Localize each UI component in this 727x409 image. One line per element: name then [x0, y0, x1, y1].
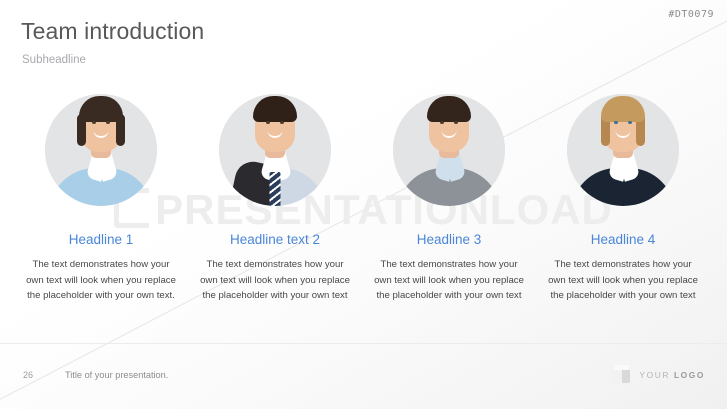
logo-word-logo: LOGO — [674, 370, 705, 380]
column-body-text[interactable]: The text demonstrates how your own text … — [199, 257, 351, 304]
column-headline[interactable]: Headline text 2 — [230, 232, 320, 247]
logo-block[interactable]: YOUR LOGO — [612, 365, 705, 385]
column-body-text[interactable]: The text demonstrates how your own text … — [25, 257, 177, 304]
subheadline[interactable]: Subheadline — [22, 54, 86, 66]
cube-right-face — [622, 370, 630, 383]
portrait-eye-right — [280, 121, 284, 124]
footer-divider — [0, 343, 727, 344]
page-number: 26 — [23, 370, 33, 380]
portrait-eye-left — [614, 121, 618, 124]
portrait-striped-tie — [270, 172, 281, 206]
column-headline[interactable]: Headline 4 — [591, 232, 656, 247]
cube-left-face — [612, 370, 622, 385]
portrait-eye-left — [92, 121, 96, 124]
portrait-eye-right — [106, 121, 110, 124]
page-title[interactable]: Team introduction — [21, 18, 204, 45]
team-member-column: Headline text 2 The text demonstrates ho… — [188, 94, 362, 304]
column-body-text[interactable]: The text demonstrates how your own text … — [373, 257, 525, 304]
avatar[interactable] — [393, 94, 505, 206]
logo-text: YOUR LOGO — [639, 370, 705, 380]
avatar[interactable] — [567, 94, 679, 206]
column-headline[interactable]: Headline 1 — [69, 232, 134, 247]
team-member-column: Headline 1 The text demonstrates how you… — [14, 94, 188, 304]
portrait-eye-left — [266, 121, 270, 124]
portrait-eye-right — [454, 121, 458, 124]
portrait-eye-left — [440, 121, 444, 124]
logo-word-your: YOUR — [639, 370, 670, 380]
team-member-column: Headline 3 The text demonstrates how you… — [362, 94, 536, 304]
team-columns: Headline 1 The text demonstrates how you… — [0, 94, 727, 304]
avatar[interactable] — [45, 94, 157, 206]
portrait-eye-right — [628, 121, 632, 124]
document-id: #DT0079 — [668, 9, 714, 20]
column-body-text[interactable]: The text demonstrates how your own text … — [547, 257, 699, 304]
footer-title[interactable]: Title of your presentation. — [65, 370, 168, 380]
avatar[interactable] — [219, 94, 331, 206]
cube-logo-icon — [612, 365, 631, 385]
column-headline[interactable]: Headline 3 — [417, 232, 482, 247]
team-member-column: Headline 4 The text demonstrates how you… — [536, 94, 710, 304]
slide-canvas: PRESENTATIONLOAD #DT0079 Team introducti… — [0, 0, 727, 409]
